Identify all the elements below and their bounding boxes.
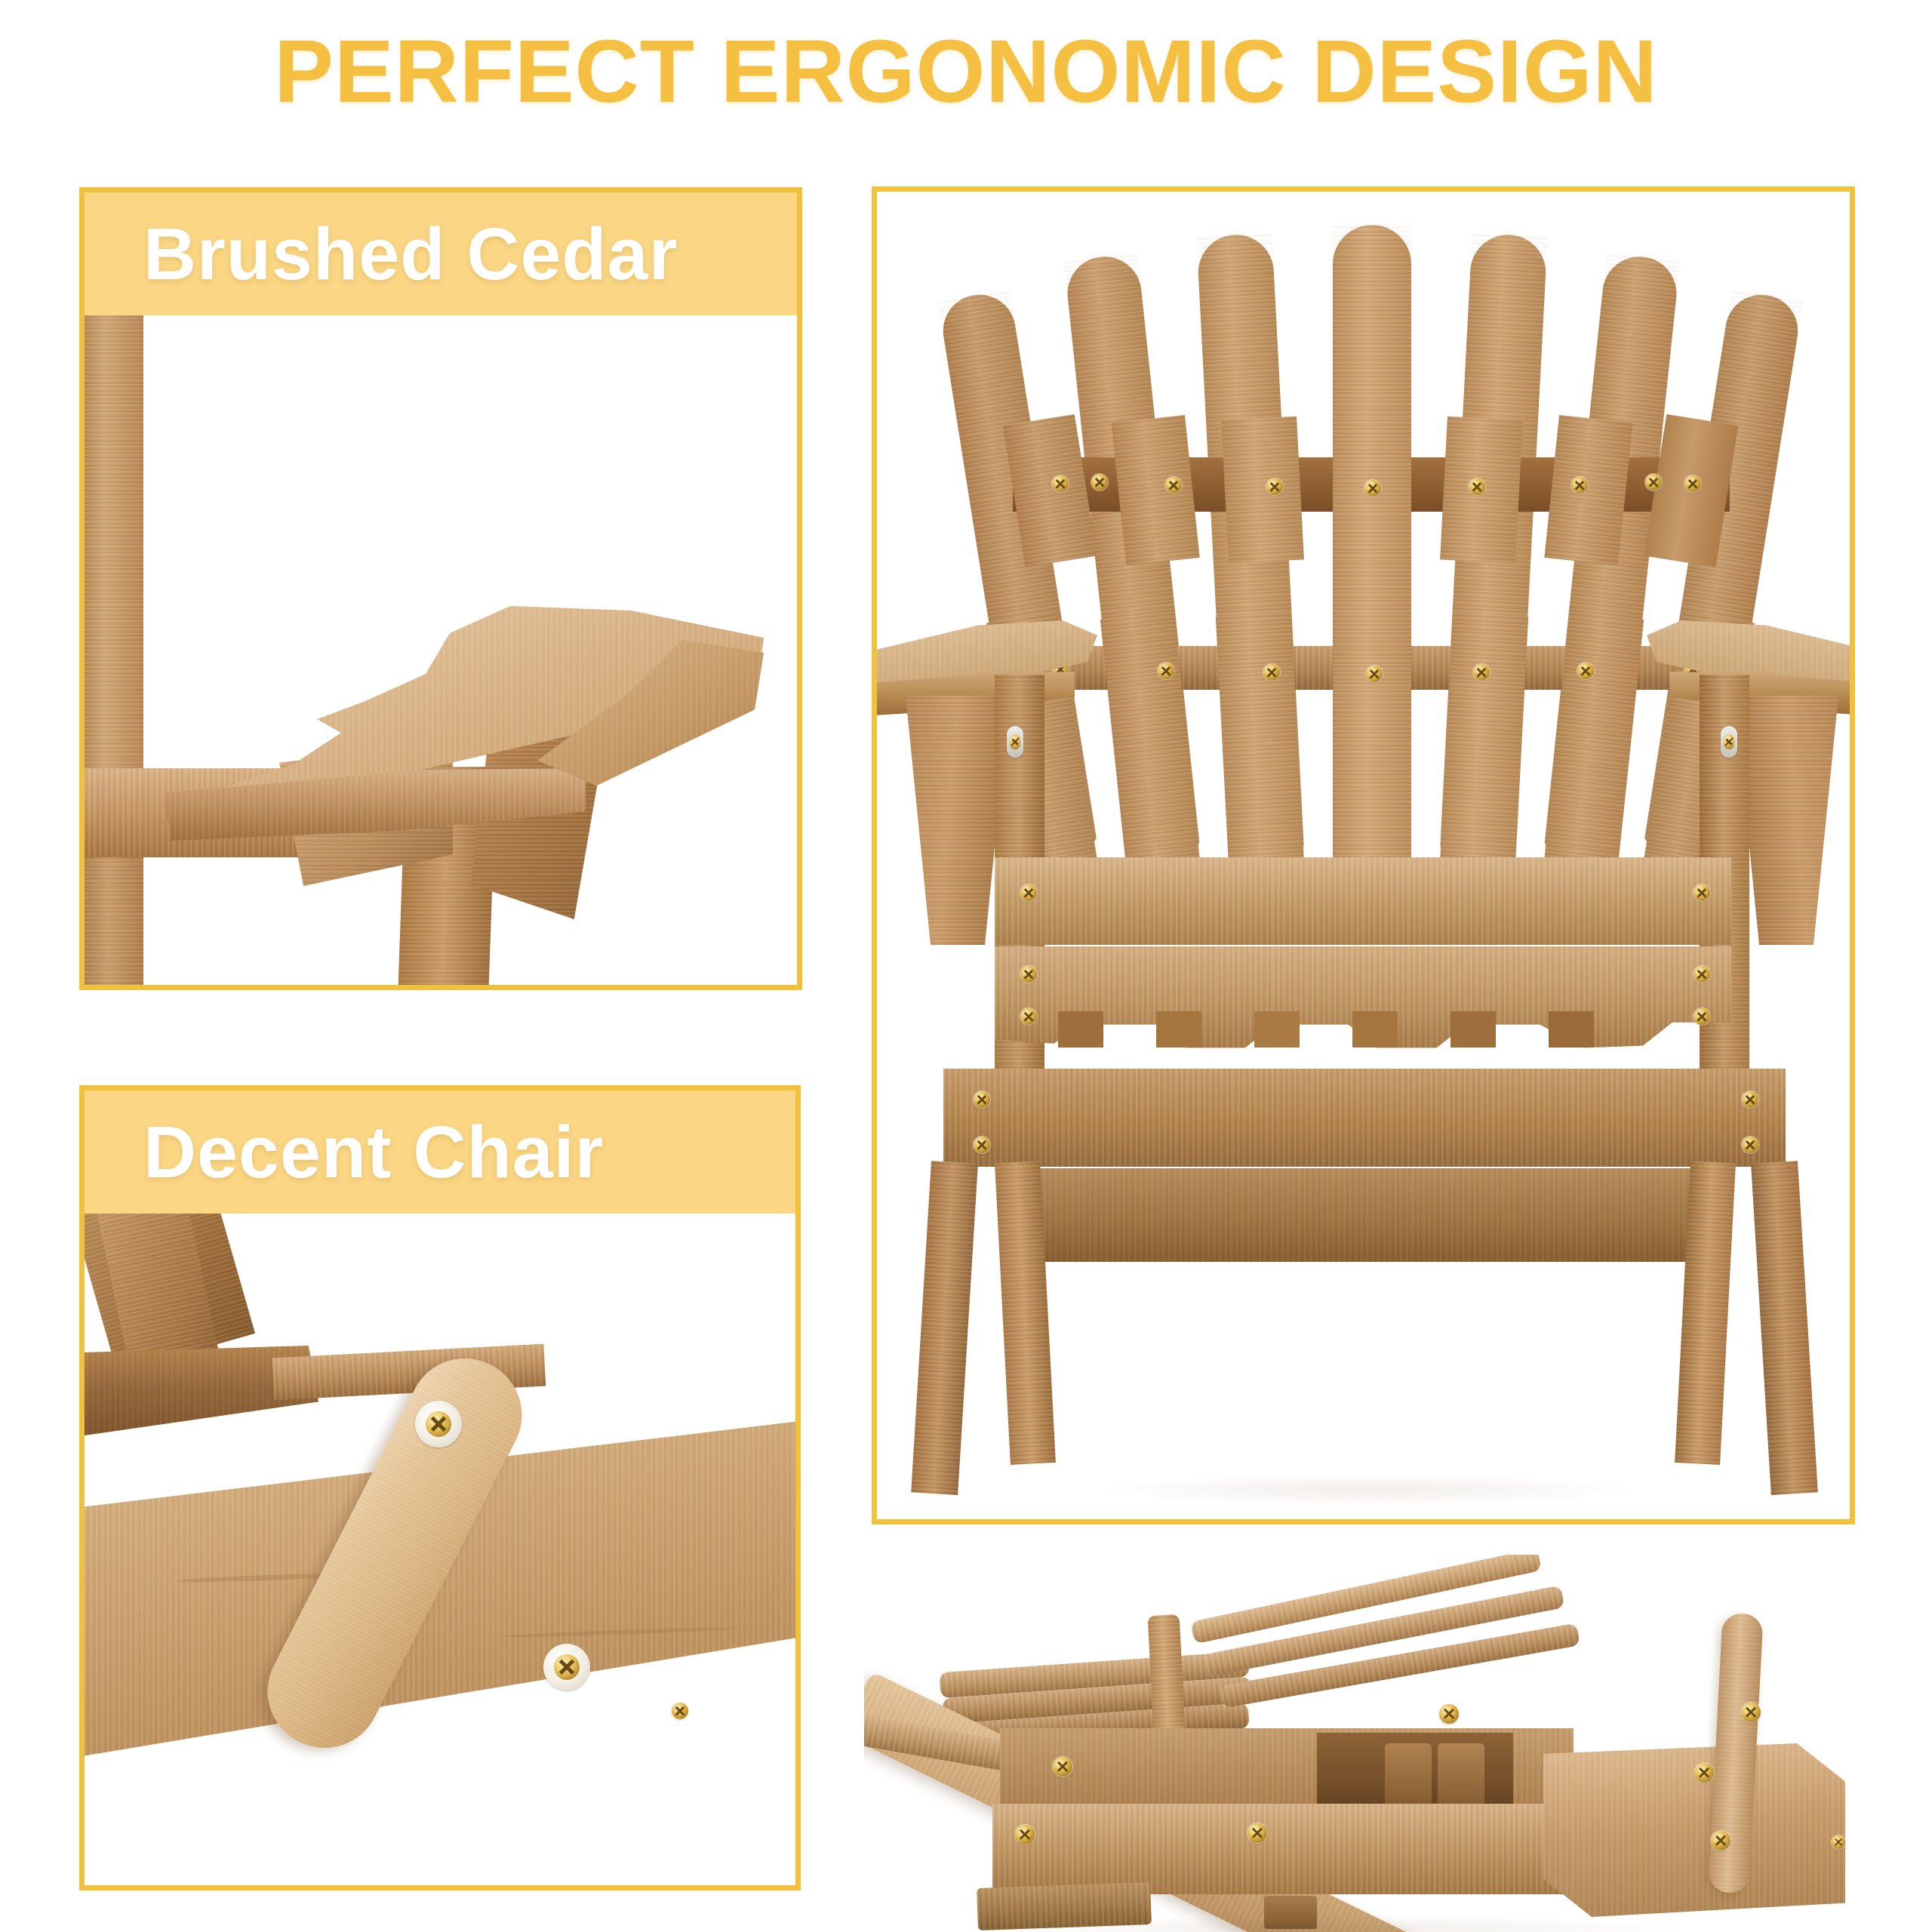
back-rail-screw [1052,475,1069,492]
back-rail-screw [1469,478,1485,495]
mid-rail-screw [1473,664,1490,681]
page-title: PERFECT ERGONOMIC DESIGN [0,26,1932,119]
folded-screw [1694,1763,1714,1783]
folded-screw [1439,1704,1459,1724]
back-rail-screw [1266,478,1283,495]
folded-chair-photo [864,1555,1868,1932]
back-rail-screw [1684,475,1701,492]
folded-screw [1053,1757,1072,1777]
brushed-cedar-label-text: Brushed Cedar [143,212,678,297]
decent-chair-label: Decent Chair [85,1091,795,1214]
back-rail-screw [1571,477,1588,494]
main-chair-photo [877,192,1850,1519]
panel-main-chair [872,186,1855,1524]
back-rail-screw [1165,477,1182,494]
mid-rail-screw [1577,663,1594,679]
folded-screw [1832,1835,1845,1849]
mid-rail-screw [1263,664,1280,681]
mid-rail-screw [1158,663,1174,679]
mid-rail-screw [1366,666,1383,682]
decent-chair-photo [85,1214,795,1890]
decent-chair-label-text: Decent Chair [143,1110,604,1195]
panel-decent-chair: Decent Chair [79,1085,801,1890]
back-rail-screw [1364,480,1381,497]
folded-screw [1741,1703,1761,1722]
brushed-cedar-label: Brushed Cedar [85,192,797,315]
chair-leg [1751,1161,1818,1495]
back-rail-screw [1091,474,1108,491]
folded-screw [1247,1823,1267,1843]
chair-leg [911,1161,978,1495]
brushed-cedar-photo [85,315,797,990]
folded-screw [1711,1831,1730,1850]
folded-screw [1015,1825,1035,1844]
back-rail-screw [1645,474,1662,491]
panel-brushed-cedar: Brushed Cedar [79,187,802,990]
